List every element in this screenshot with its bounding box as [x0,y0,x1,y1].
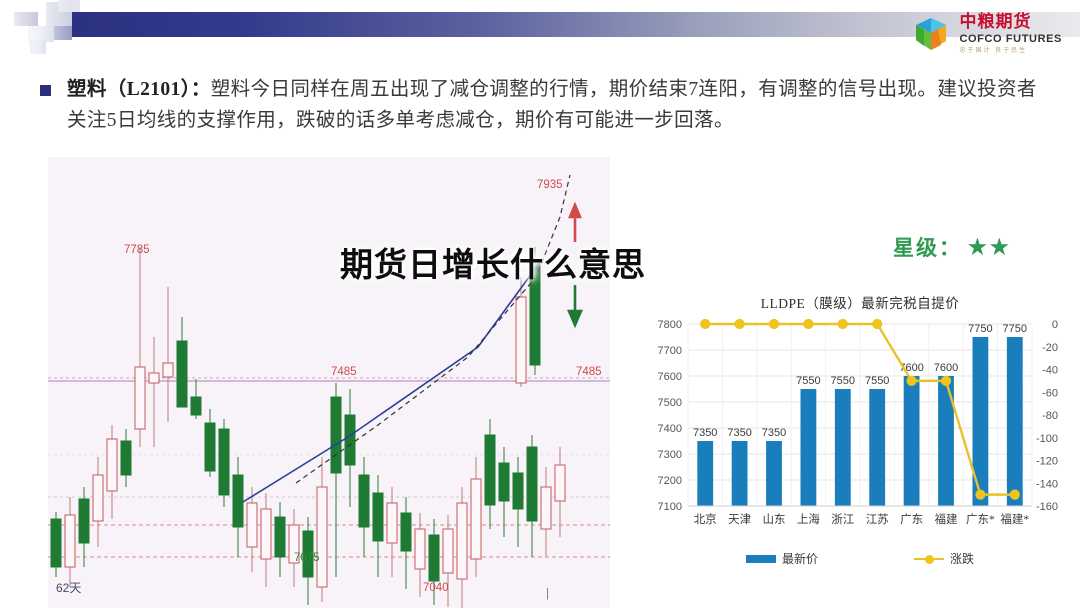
legend-line-swatch-icon [914,555,944,563]
svg-text:-120: -120 [1036,456,1058,468]
svg-text:7400: 7400 [658,423,682,435]
commentary-text: 塑料（L2101）：塑料今日同样在周五出现了减仓调整的行情，期价结束7连阳，有调… [67,74,1042,136]
svg-text:广东: 广东 [900,513,923,526]
svg-text:7550: 7550 [796,375,820,387]
svg-text:-140: -140 [1036,478,1058,490]
svg-text:7750: 7750 [1003,323,1027,335]
svg-text:天津: 天津 [728,513,751,526]
header-left-fade [0,0,70,62]
lldpe-price-chart-panel: LLDPE（膜级）最新完税自提价 71007200730074007500760… [640,288,1080,608]
commentary-heading: 塑料（L2101）： [67,79,211,100]
legend-label-price: 最新价 [782,550,818,567]
svg-text:7100: 7100 [658,501,682,513]
svg-text:7550: 7550 [831,375,855,387]
star-rating-label: 星级： [893,232,962,262]
svg-text:7200: 7200 [658,475,682,487]
commentary-body: 塑料今日同样在周五出现了减仓调整的行情，期价结束7连阳，有调整的信号出现。建议投… [67,79,1037,131]
logo-text-block: 中粮期货 COFCO FUTURES 忠于国计 良于民生 [959,14,1062,54]
candlestick-chart-svg: 7785 7935 7485 7485 7075 7040 | [48,157,610,608]
candle-period-label: 62天 [56,579,81,596]
logo-cn-name: 中粮期货 [959,14,1062,31]
svg-text:-60: -60 [1042,387,1058,399]
svg-text:7040: 7040 [423,582,449,594]
star-rating-stars: ★★ [968,235,1012,260]
commentary-bullet-block: 塑料（L2101）：塑料今日同样在周五出现了减仓调整的行情，期价结束7连阳，有调… [40,74,1050,136]
svg-text:7485: 7485 [331,366,357,378]
svg-text:7600: 7600 [658,371,682,383]
svg-text:7350: 7350 [727,427,751,439]
svg-text:山东: 山东 [763,513,786,526]
svg-text:7500: 7500 [658,397,682,409]
svg-text:7075: 7075 [294,552,320,564]
svg-text:广东*: 广东* [966,513,995,526]
square-bullet-icon [40,85,51,96]
svg-text:-100: -100 [1036,433,1058,445]
svg-text:7600: 7600 [934,362,958,374]
svg-text:福建*: 福建* [1000,512,1029,526]
svg-text:7300: 7300 [658,449,682,461]
bar-chart-svg: 710072007300740075007600770078000-20-40-… [640,310,1080,550]
svg-text:7550: 7550 [865,375,889,387]
candlestick-chart-panel: 7785 7935 7485 7485 7075 7040 | 62天 [48,157,610,608]
star-rating: 星级： ★★ [893,232,1012,262]
svg-text:-20: -20 [1042,342,1058,354]
svg-text:-40: -40 [1042,365,1058,377]
bar-chart-title: LLDPE（膜级）最新完税自提价 [640,292,1080,312]
bar-chart-legend: 最新价 涨跌 [640,550,1080,567]
svg-text:7350: 7350 [693,427,717,439]
legend-item-change: 涨跌 [914,550,974,567]
logo-slogan: 忠于国计 良于民生 [959,48,1062,54]
cofco-futures-logo: 中粮期货 COFCO FUTURES 忠于国计 良于民生 [911,12,1062,56]
svg-text:7935: 7935 [537,179,563,191]
watermark-title: 期货日增长什么意思 [340,238,646,286]
svg-text:福建: 福建 [935,512,958,526]
svg-text:7750: 7750 [968,323,992,335]
svg-text:7350: 7350 [762,427,786,439]
legend-bar-swatch-icon [746,555,776,563]
svg-text:北京: 北京 [694,512,717,526]
svg-text:-160: -160 [1036,501,1058,513]
svg-text:7785: 7785 [124,244,150,256]
svg-text:浙江: 浙江 [831,513,854,526]
logo-en-name: COFCO FUTURES [959,34,1062,45]
svg-text:0: 0 [1052,319,1058,331]
legend-item-price: 最新价 [746,550,818,567]
svg-text:上海: 上海 [797,512,820,526]
svg-text:|: | [546,588,549,600]
svg-text:7700: 7700 [658,345,682,357]
svg-text:7485: 7485 [576,366,602,378]
cofco-cube-icon [911,14,951,54]
legend-label-change: 涨跌 [950,550,974,567]
svg-text:-80: -80 [1042,410,1058,422]
svg-text:江苏: 江苏 [866,513,889,526]
svg-text:7800: 7800 [658,319,682,331]
